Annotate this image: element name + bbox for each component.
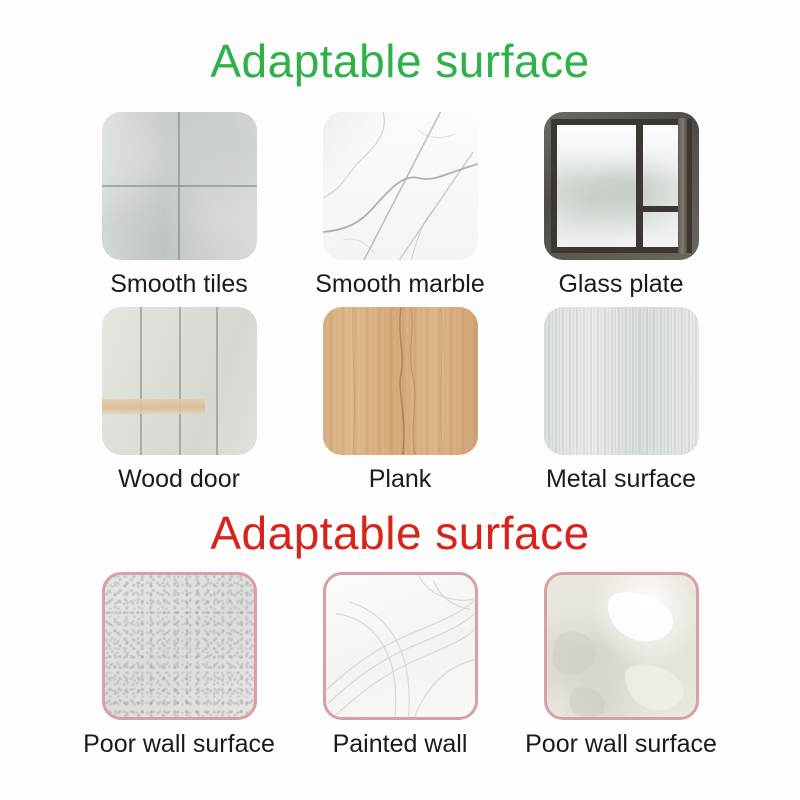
swatch-painted-wall	[323, 572, 478, 720]
door-groove-1	[140, 307, 142, 455]
caption-plank: Plank	[369, 465, 432, 494]
surface-cell-glass-plate: Glass plate	[544, 112, 699, 299]
swatch-plank	[323, 307, 478, 455]
caption-smooth-marble: Smooth marble	[315, 270, 485, 299]
swatch-wood-door	[102, 307, 257, 455]
infographic-page: Adaptable surface Smooth tiles Smooth ma…	[0, 0, 800, 800]
door-groove-2	[179, 307, 181, 455]
surface-cell-poor-wall-1: Poor wall surface	[102, 572, 257, 759]
surface-cell-painted-wall: Painted wall	[323, 572, 478, 759]
swatch-smooth-tiles	[102, 112, 257, 260]
window-outdoor-scene	[557, 125, 686, 247]
caption-glass-plate: Glass plate	[558, 270, 683, 299]
swatch-metal-surface	[544, 307, 699, 455]
surface-cell-poor-wall-2: Poor wall surface	[544, 572, 699, 759]
swatch-glass-plate	[544, 112, 699, 260]
door-wood-accent-strip	[102, 399, 206, 414]
window-frame	[551, 119, 692, 253]
surface-cell-metal-surface: Metal surface	[544, 307, 699, 494]
swatch-poor-wall-surface-1	[102, 572, 257, 720]
caption-painted-wall: Painted wall	[333, 730, 468, 759]
swatch-smooth-marble	[323, 112, 478, 260]
surface-cell-plank: Plank	[323, 307, 478, 494]
brush-strokes-icon	[326, 575, 475, 717]
window-mullion-vertical	[636, 125, 643, 247]
marble-veins-icon	[323, 112, 478, 260]
surface-row-suitable-1: Smooth tiles Smooth marble	[0, 112, 800, 299]
door-groove-3	[216, 307, 218, 455]
caption-wood-door: Wood door	[118, 465, 240, 494]
caption-metal-surface: Metal surface	[546, 465, 696, 494]
caption-poor-wall-surface-1: Poor wall surface	[83, 730, 275, 759]
surface-row-suitable-2: Wood door Plank Metal surface	[0, 307, 800, 494]
surface-cell-smooth-marble: Smooth marble	[323, 112, 478, 299]
heading-unsuitable-surfaces: Adaptable surface	[0, 510, 800, 556]
caption-poor-wall-surface-2: Poor wall surface	[525, 730, 717, 759]
surface-row-unsuitable-1: Poor wall surface Painted	[0, 572, 800, 759]
surface-cell-smooth-tiles: Smooth tiles	[102, 112, 257, 299]
peeling-patches-icon	[547, 575, 696, 717]
window-side-post	[678, 118, 687, 254]
caption-smooth-tiles: Smooth tiles	[110, 270, 248, 299]
wood-grain-icon	[323, 307, 478, 455]
heading-suitable-surfaces: Adaptable surface	[0, 38, 800, 84]
swatch-poor-wall-surface-2	[544, 572, 699, 720]
surface-cell-wood-door: Wood door	[102, 307, 257, 494]
